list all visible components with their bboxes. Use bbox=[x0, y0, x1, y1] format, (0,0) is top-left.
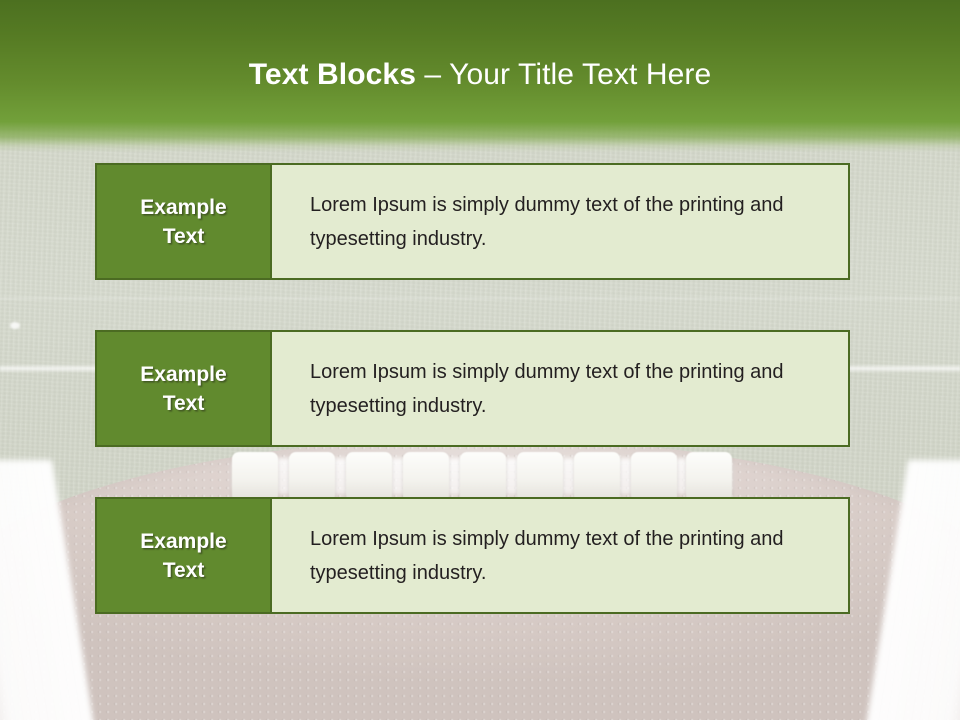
text-block-label-line2: Text bbox=[163, 389, 205, 418]
text-block-label-line2: Text bbox=[163, 556, 205, 585]
text-block-body-text: Lorem Ipsum is simply dummy text of the … bbox=[310, 188, 826, 256]
text-block-body-text: Lorem Ipsum is simply dummy text of the … bbox=[310, 355, 826, 423]
page-title-rest: Your Title Text Here bbox=[449, 58, 711, 91]
text-block-label-line1: Example bbox=[140, 193, 226, 222]
page-title-separator: – bbox=[416, 58, 449, 91]
text-block-label: Example Text bbox=[97, 165, 272, 278]
text-block-body-text: Lorem Ipsum is simply dummy text of the … bbox=[310, 522, 826, 590]
page-title: Text Blocks – Your Title Text Here bbox=[0, 56, 960, 94]
text-block[interactable]: Example Text Lorem Ipsum is simply dummy… bbox=[95, 497, 850, 614]
text-block-body-panel: Lorem Ipsum is simply dummy text of the … bbox=[272, 332, 848, 445]
text-block-label-line1: Example bbox=[140, 527, 226, 556]
slide-canvas: Text Blocks – Your Title Text Here Examp… bbox=[0, 0, 960, 720]
text-block[interactable]: Example Text Lorem Ipsum is simply dummy… bbox=[95, 330, 850, 447]
text-block-body-panel: Lorem Ipsum is simply dummy text of the … bbox=[272, 165, 848, 278]
text-block-label-line2: Text bbox=[163, 222, 205, 251]
text-block-label-line1: Example bbox=[140, 360, 226, 389]
text-blocks-container: Example Text Lorem Ipsum is simply dummy… bbox=[95, 163, 850, 664]
text-block-body-panel: Lorem Ipsum is simply dummy text of the … bbox=[272, 499, 848, 612]
text-block[interactable]: Example Text Lorem Ipsum is simply dummy… bbox=[95, 163, 850, 280]
page-title-bold-part: Text Blocks bbox=[249, 58, 416, 91]
field-hash-mark bbox=[10, 322, 20, 329]
text-block-label: Example Text bbox=[97, 332, 272, 445]
text-block-label: Example Text bbox=[97, 499, 272, 612]
